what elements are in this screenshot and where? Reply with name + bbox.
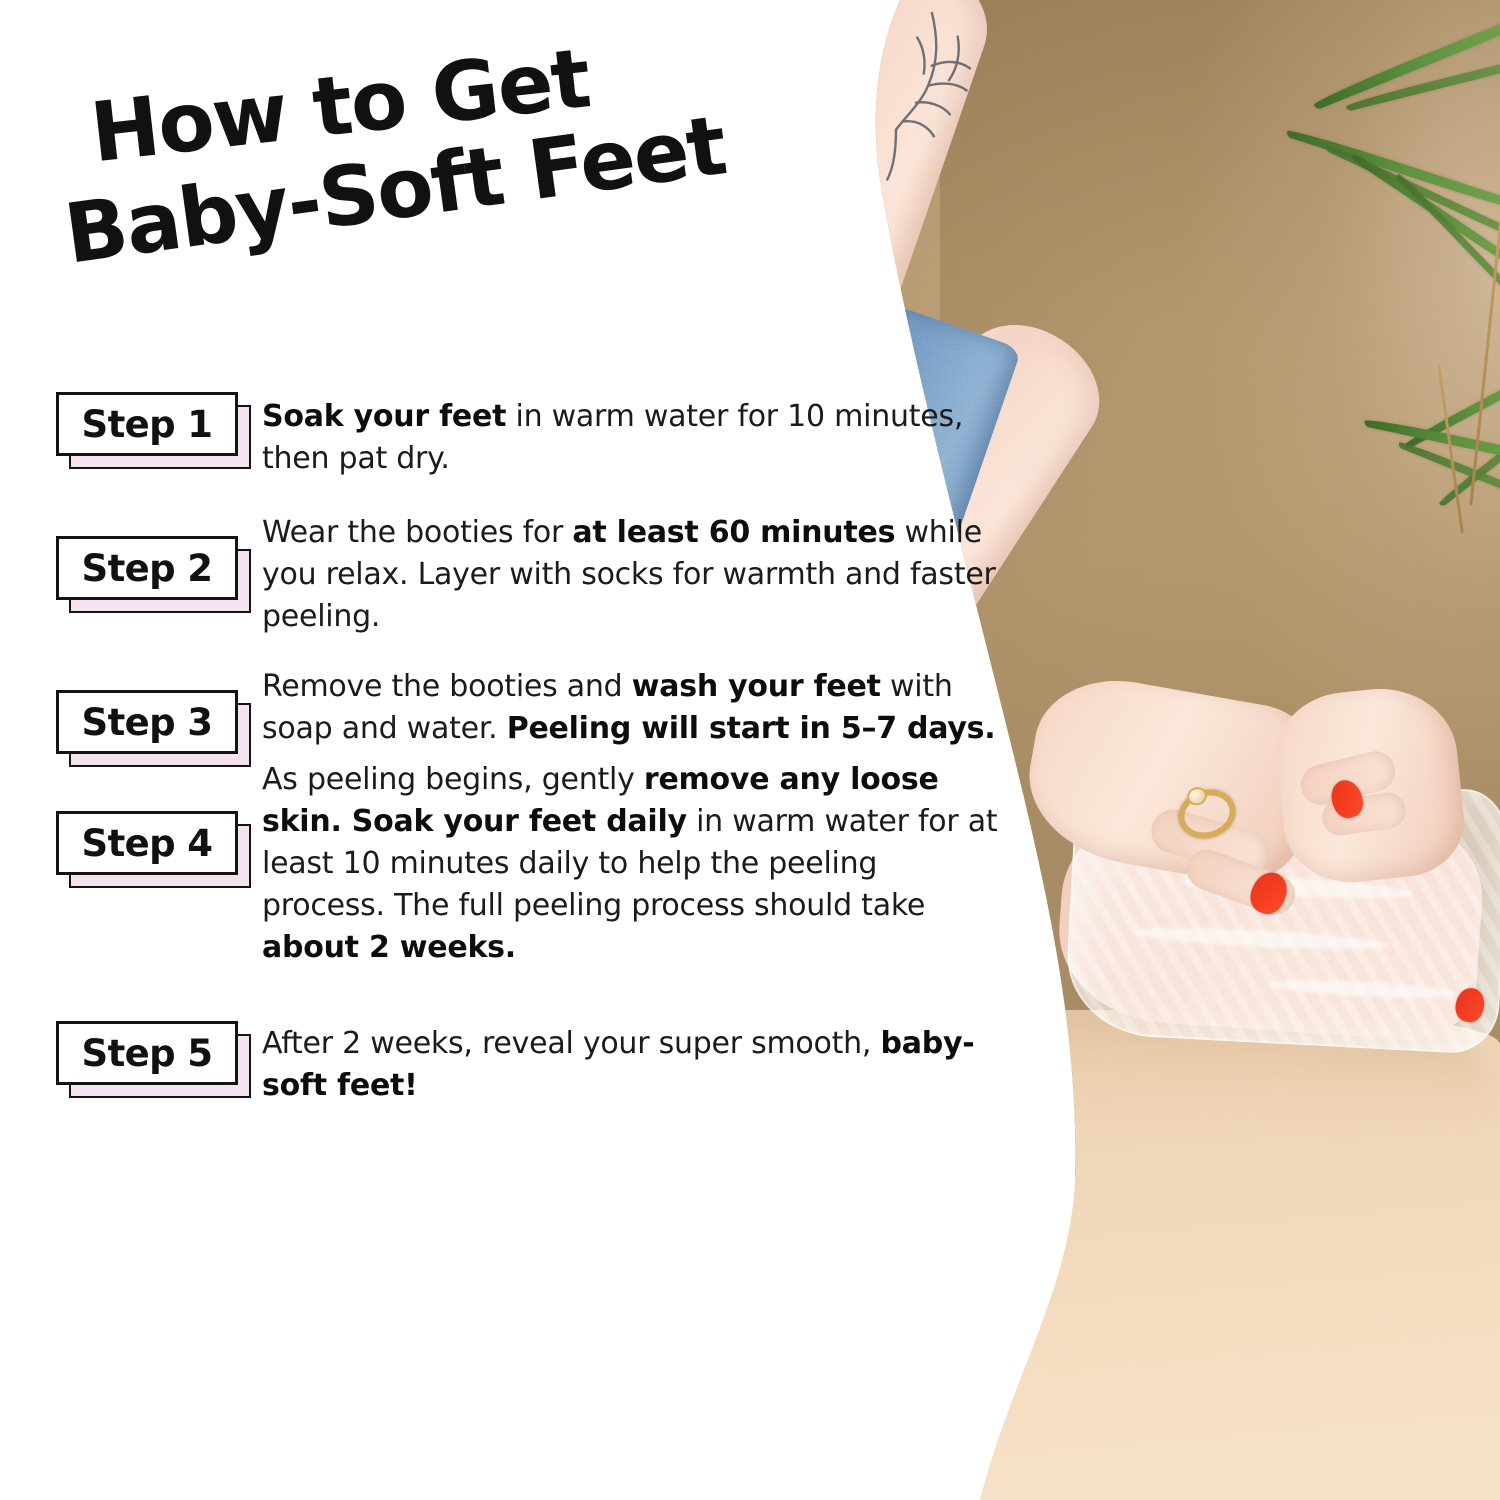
steps-list: Step 1 Soak your feet in warm water for … <box>0 392 1010 1107</box>
step-body: As peeling begins, gently remove any loo… <box>262 759 1010 969</box>
step-badge-slot: Step 1 <box>0 392 262 461</box>
step-badge-face: Step 3 <box>56 690 238 754</box>
step-badge-4: Step 4 <box>56 811 238 875</box>
step-badge-label: Step 3 <box>82 704 213 741</box>
step-item: Step 3 Remove the booties and wash your … <box>0 690 1010 759</box>
step-text-5: After 2 weeks, reveal your super smooth,… <box>262 1023 1000 1107</box>
step-badge-label: Step 4 <box>82 825 213 862</box>
step-badge-5: Step 5 <box>56 1021 238 1085</box>
step-badge-2: Step 2 <box>56 536 238 600</box>
step-badge-face: Step 2 <box>56 536 238 600</box>
step-badge-slot: Step 2 <box>0 536 262 605</box>
step-text-1: Soak your feet in warm water for 10 minu… <box>262 396 1000 480</box>
step-item: Step 1 Soak your feet in warm water for … <box>0 392 1010 480</box>
step-badge-face: Step 1 <box>56 392 238 456</box>
step-badge-face: Step 5 <box>56 1021 238 1085</box>
step-badge-slot: Step 3 <box>0 690 262 759</box>
step-badge-3: Step 3 <box>56 690 238 754</box>
step-body: Soak your feet in warm water for 10 minu… <box>262 392 1010 480</box>
step-item: Step 2 Wear the booties for at least 60 … <box>0 536 1010 638</box>
step-item: Step 4 As peeling begins, gently remove … <box>0 811 1010 969</box>
palm-frond-group <box>1300 0 1500 600</box>
step-badge-label: Step 2 <box>82 550 213 587</box>
step-badge-slot: Step 4 <box>0 811 262 880</box>
page-title: How to Get Baby-Soft Feet <box>86 1 863 280</box>
step-badge-label: Step 1 <box>82 406 213 443</box>
infographic-canvas: How to Get Baby-Soft Feet Step 1 Soak yo… <box>0 0 1500 1500</box>
step-badge-face: Step 4 <box>56 811 238 875</box>
step-badge-label: Step 5 <box>82 1035 213 1072</box>
step-badge-slot: Step 5 <box>0 1021 262 1090</box>
step-text-4: As peeling begins, gently remove any loo… <box>262 759 1000 969</box>
step-item: Step 5 After 2 weeks, reveal your super … <box>0 1021 1010 1107</box>
step-body: After 2 weeks, reveal your super smooth,… <box>262 1023 1010 1107</box>
step-body: Remove the booties and wash your feet wi… <box>262 666 1010 750</box>
step-badge-1: Step 1 <box>56 392 238 456</box>
step-body: Wear the booties for at least 60 minutes… <box>262 512 1010 638</box>
step-text-2: Wear the booties for at least 60 minutes… <box>262 512 1000 638</box>
step-text-3: Remove the booties and wash your feet wi… <box>262 666 1000 750</box>
